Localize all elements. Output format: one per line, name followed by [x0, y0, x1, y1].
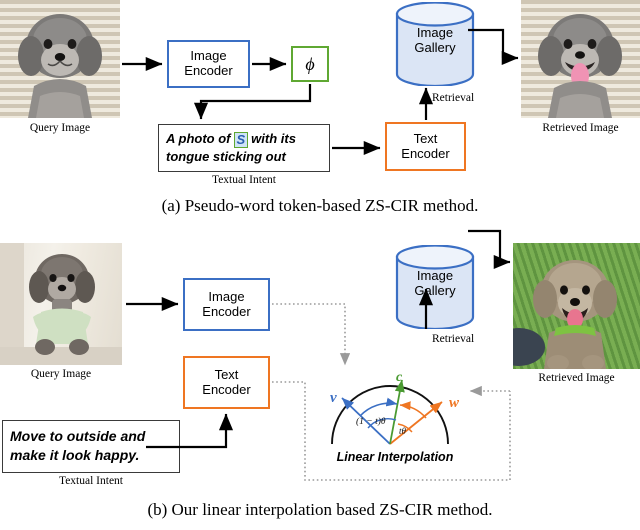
panel-b-caption: (b) Our linear interpolation based ZS-CI… — [0, 500, 640, 520]
panel-a-caption: (a) Pseudo-word token-based ZS-CIR metho… — [0, 196, 640, 216]
panel-a-connectors — [0, 0, 640, 195]
panel-b-connectors — [0, 215, 640, 495]
figure-root: Query Image Image Encoder ϕ A photo of S… — [0, 0, 640, 530]
